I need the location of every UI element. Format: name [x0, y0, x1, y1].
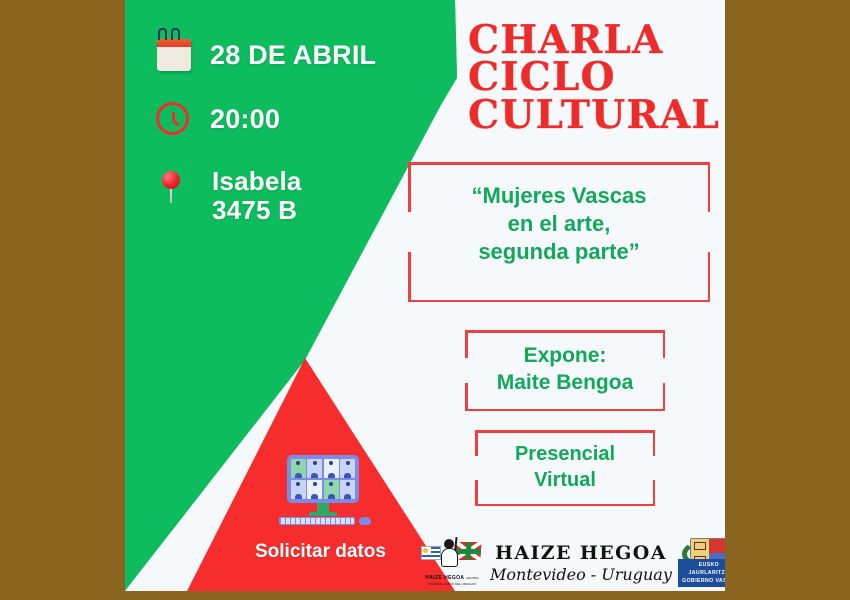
calendar-icon: [150, 32, 196, 78]
event-date-label: 28 DE ABRIL: [210, 40, 376, 70]
participant-tile: [291, 480, 306, 499]
haize-hegoa-wordmark: HAIZE HEGOA Montevideo - Uruguay: [484, 542, 678, 584]
talk-title-line-3: segunda parte”: [408, 238, 710, 266]
box-border-bottom: [408, 300, 710, 303]
talk-title-line-1: “Mujeres Vascas: [408, 182, 710, 210]
box-border-bottom: [465, 409, 665, 412]
haize-hegoa-emblem-caption: HAIZE HEGOA CENTRO CULTURAL VASCO DEL UR…: [422, 575, 482, 588]
participant-tile: [340, 480, 355, 499]
event-location-label: Isabela 3475 B: [212, 165, 302, 225]
box-border-top: [408, 162, 710, 165]
haize-hegoa-title: HAIZE HEGOA: [490, 542, 672, 564]
speaker-name: Maite Bengoa: [465, 370, 665, 397]
talk-title-text: “Mujeres Vascas en el arte, segunda part…: [408, 182, 710, 266]
speaker-box: Expone: Maite Bengoa: [465, 330, 665, 411]
attendance-mode-text: Presencial Virtual: [475, 442, 655, 493]
location-line-2: 3475 B: [212, 196, 302, 225]
mode-line-1: Presencial: [475, 442, 655, 468]
mode-line-2: Virtual: [475, 468, 655, 494]
participant-tile: [324, 459, 339, 478]
keyboard-icon: [279, 517, 355, 525]
speaker-text: Expone: Maite Bengoa: [465, 343, 665, 397]
box-border-bottom: [475, 504, 655, 507]
headline-line-3: CULTURAL: [468, 97, 720, 134]
event-poster: 28 DE ABRIL 20:00 Isabela 3475 B CHARLA …: [125, 0, 725, 591]
haize-hegoa-emblem-icon: HAIZE HEGOA CENTRO CULTURAL VASCO DEL UR…: [420, 536, 484, 589]
monitor-base: [309, 512, 337, 516]
monitor-stand: [317, 503, 329, 512]
participant-tile: [324, 480, 339, 499]
box-border-top: [475, 430, 655, 433]
participant-tile: [307, 480, 322, 499]
box-border-top: [465, 330, 665, 333]
event-date-row: 28 DE ABRIL: [150, 32, 376, 78]
event-location-row: Isabela 3475 B: [152, 165, 302, 225]
map-pin-icon: [152, 165, 198, 211]
event-time-label: 20:00: [210, 104, 280, 134]
footer-logos: HAIZE HEGOA CENTRO CULTURAL VASCO DEL UR…: [420, 534, 720, 591]
basque-government-wordmark: EUSKO JAURLARITZA GOBIERNO VASCO: [678, 559, 725, 586]
uruguay-sun-icon: [423, 548, 428, 553]
talk-title-box: “Mujeres Vascas en el arte, segunda part…: [408, 162, 710, 302]
poster-canvas: 28 DE ABRIL 20:00 Isabela 3475 B CHARLA …: [0, 0, 850, 600]
talk-title-line-2: en el arte,: [408, 210, 710, 238]
participant-grid: [291, 459, 355, 499]
gov-line-1: EUSKO JAURLARITZA: [689, 562, 726, 576]
haize-hegoa-subtitle: Montevideo - Uruguay: [490, 565, 672, 584]
participant-tile: [307, 459, 322, 478]
participant-tile: [291, 459, 306, 478]
participant-tile: [340, 459, 355, 478]
gov-line-2: GOBIERNO VASCO: [682, 578, 725, 584]
video-conference-monitor-icon: [279, 455, 375, 525]
basque-government-shield-icon: EUSKO JAURLARITZA GOBIERNO VASCO: [678, 538, 725, 588]
poster-headline: CHARLA CICLO CULTURAL: [468, 22, 720, 134]
emblem-caption-title: HAIZE HEGOA: [425, 575, 464, 581]
attendance-mode-box: Presencial Virtual: [475, 430, 655, 506]
flag-bearer-figure-icon: [440, 539, 460, 569]
mouse-icon: [359, 517, 371, 525]
clock-icon: [150, 96, 196, 142]
speaker-label: Expone:: [465, 343, 665, 370]
event-time-row: 20:00: [150, 96, 280, 142]
monitor-screen: [287, 455, 359, 503]
location-line-1: Isabela: [212, 167, 302, 196]
request-data-label: Solicitar datos: [255, 541, 386, 563]
